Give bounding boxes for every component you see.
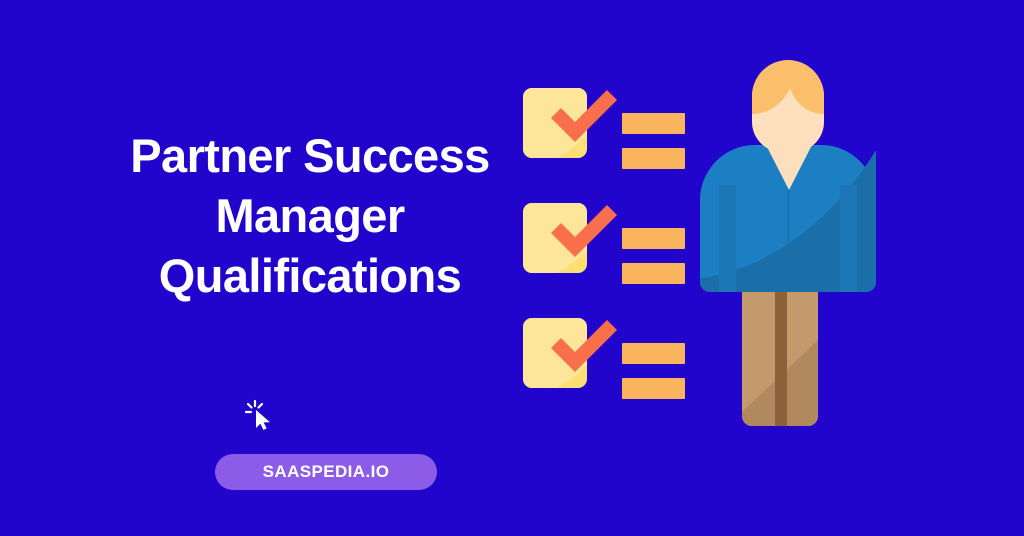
banner-canvas: Partner Success Manager Qualifications S… [0, 0, 1024, 536]
checkmark-icon [545, 195, 625, 275]
checklist-line [622, 148, 685, 169]
person-shirt [700, 145, 876, 292]
checklist-line [622, 113, 685, 134]
person-head [752, 60, 824, 152]
page-title-line-1: Partner Success [128, 126, 492, 186]
checklist-line [622, 228, 685, 249]
badge-label: SAASPEDIA.IO [263, 462, 390, 482]
checklist-line [622, 263, 685, 284]
checklist-line [622, 343, 685, 364]
page-title-line-3: Qualifications [128, 246, 492, 306]
saaspedia-badge[interactable]: SAASPEDIA.IO [215, 454, 437, 490]
standing-person-illustration [690, 40, 890, 440]
mouse-click-cursor-icon [244, 398, 280, 434]
checkmark-icon [545, 80, 625, 160]
checklist-row [523, 88, 693, 164]
checkmark-icon [545, 310, 625, 390]
checklist-row [523, 203, 693, 279]
checklist-row [523, 318, 693, 394]
checklist-graphic [523, 88, 693, 408]
page-title: Partner Success Manager Qualifications [128, 126, 492, 306]
checklist-line [622, 378, 685, 399]
page-title-line-2: Manager [128, 186, 492, 246]
